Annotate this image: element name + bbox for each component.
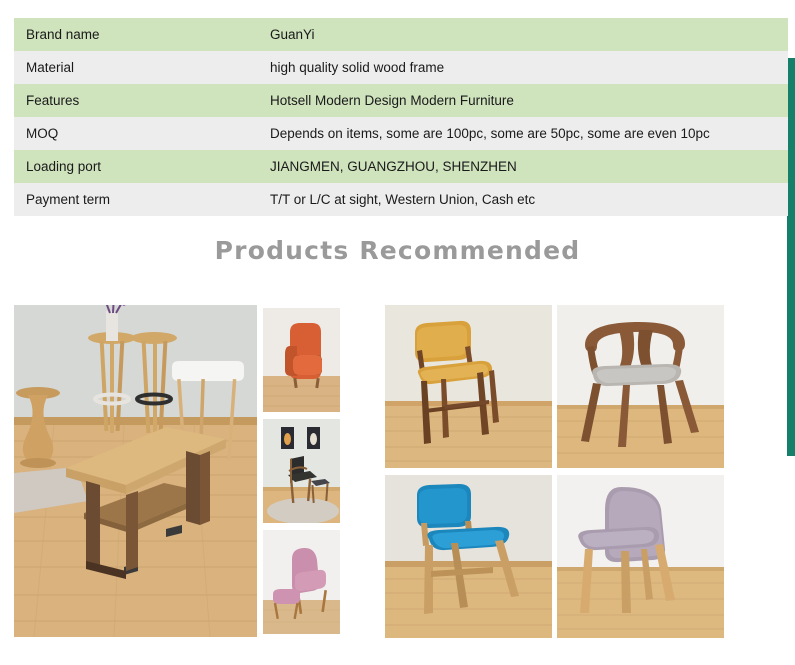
blue-dining-chair	[385, 475, 552, 638]
thumbnail-strip	[263, 305, 340, 637]
lavender-shell-chair	[557, 475, 724, 638]
product-gallery	[0, 305, 795, 640]
hero-product-image[interactable]	[14, 305, 257, 637]
table-row: MOQ Depends on items, some are 100pc, so…	[14, 117, 788, 150]
wooden-console-table-room-scene	[14, 305, 257, 637]
spec-key: Features	[14, 84, 258, 117]
page-title: Products Recommended	[0, 236, 795, 265]
spec-table-body: Brand name GuanYi Material high quality …	[14, 18, 788, 216]
spec-key: Payment term	[14, 183, 258, 216]
grid-image-item[interactable]	[385, 475, 552, 638]
product-spec-table: Brand name GuanYi Material high quality …	[14, 18, 788, 216]
thumbnail-item[interactable]	[263, 308, 340, 412]
spec-value: GuanYi	[258, 18, 788, 51]
spec-key: Material	[14, 51, 258, 84]
thumbnail-item[interactable]	[263, 419, 340, 523]
gallery-left-panel	[14, 305, 340, 637]
yellow-dining-chair	[385, 305, 552, 468]
thumbnail-item[interactable]	[263, 530, 340, 634]
spec-key: MOQ	[14, 117, 258, 150]
walnut-arm-chair	[557, 305, 724, 468]
spec-value: T/T or L/C at sight, Western Union, Cash…	[258, 183, 788, 216]
table-row: Payment term T/T or L/C at sight, Wester…	[14, 183, 788, 216]
black-chair-stool-thumb	[263, 419, 340, 523]
grid-image-item[interactable]	[557, 475, 724, 638]
spec-key: Loading port	[14, 150, 258, 183]
orange-armchair-thumb	[263, 308, 340, 412]
spec-key: Brand name	[14, 18, 258, 51]
spec-value: Depends on items, some are 100pc, some a…	[258, 117, 788, 150]
grid-image-item[interactable]	[557, 305, 724, 468]
spec-value: JIANGMEN, GUANGZHOU, SHENZHEN	[258, 150, 788, 183]
table-row: Loading port JIANGMEN, GUANGZHOU, SHENZH…	[14, 150, 788, 183]
table-row: Features Hotsell Modern Design Modern Fu…	[14, 84, 788, 117]
spec-value: high quality solid wood frame	[258, 51, 788, 84]
table-row: Brand name GuanYi	[14, 18, 788, 51]
grid-image-item[interactable]	[385, 305, 552, 468]
pink-chair-ottoman-thumb	[263, 530, 340, 634]
table-row: Material high quality solid wood frame	[14, 51, 788, 84]
gallery-right-grid	[385, 305, 728, 640]
spec-value: Hotsell Modern Design Modern Furniture	[258, 84, 788, 117]
